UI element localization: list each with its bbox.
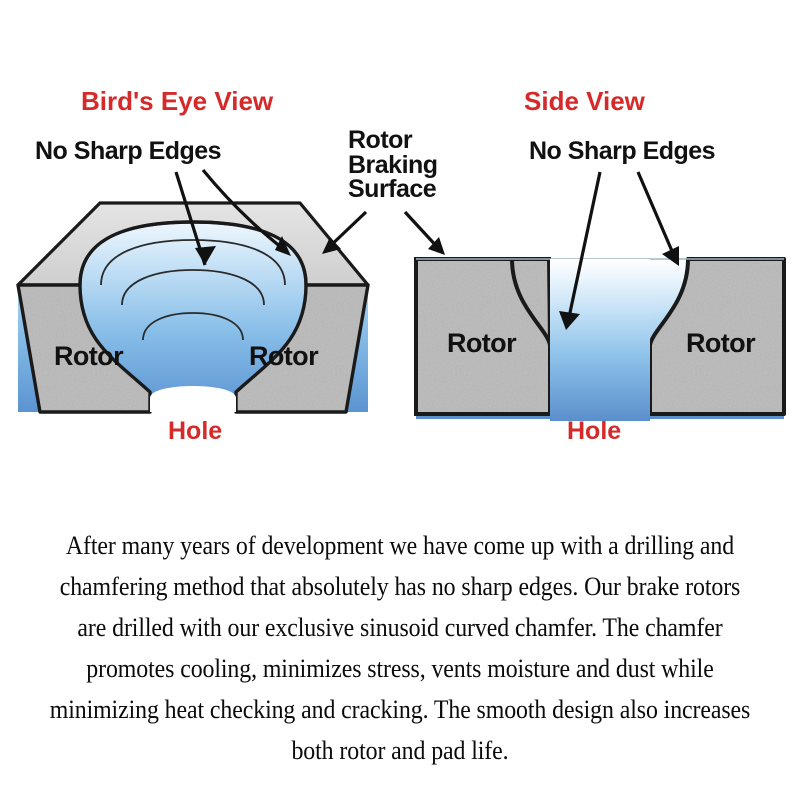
rotor-label-left-block: Rotor: [54, 341, 124, 371]
arrow-braking-surface-right: [405, 212, 445, 255]
braking-label-line-3: Surface: [348, 175, 436, 203]
description-paragraph: After many years of development we have …: [47, 525, 753, 771]
side-view-title: Side View: [524, 88, 645, 115]
side-view-diagram: Rotor Rotor: [405, 172, 784, 421]
no-sharp-edges-label-left: No Sharp Edges: [35, 139, 221, 165]
hole-bottom-notch-left: [150, 386, 236, 412]
hole-label-left: Hole: [168, 419, 222, 445]
hole-channel-side-view-grad: [550, 259, 650, 421]
rotor-label-left-side-view: Rotor: [447, 328, 517, 358]
birds-eye-view-diagram: Rotor Rotor: [18, 170, 370, 415]
rotor-label-right-side-view: Rotor: [686, 328, 756, 358]
arrow-no-sharp-edges-right-b: [638, 172, 679, 266]
no-sharp-edges-label-right: No Sharp Edges: [529, 139, 715, 165]
arrow-braking-surface-left: [322, 212, 366, 254]
birds-eye-view-title: Bird's Eye View: [81, 88, 273, 115]
rotor-chamfer-illustration: Rotor Rotor: [0, 0, 800, 500]
hole-label-right: Hole: [567, 419, 621, 445]
rotor-label-right-block: Rotor: [249, 341, 319, 371]
rotor-braking-surface-label: RotorBrakingSurface: [348, 128, 438, 202]
diagram-page: Rotor Rotor: [0, 0, 800, 800]
